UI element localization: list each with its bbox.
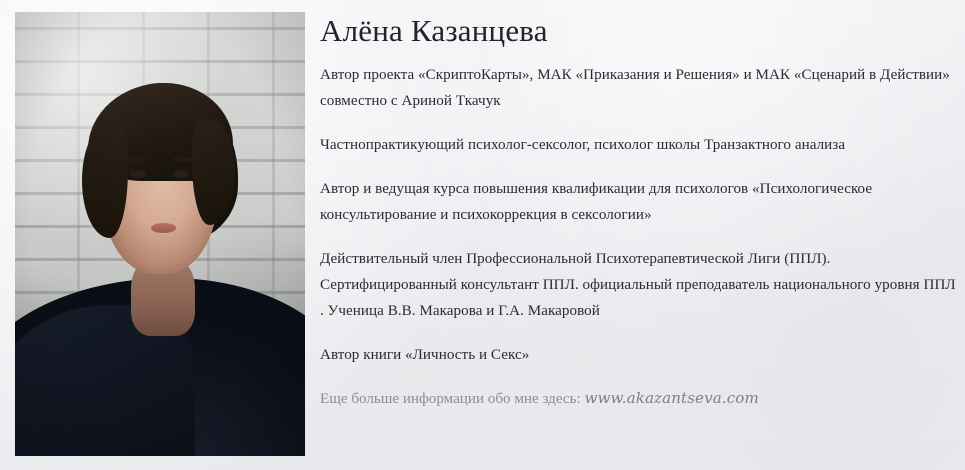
bio-paragraph-book: Автор книги «Личность и Секс» xyxy=(320,342,956,368)
bio-paragraph-membership: Действительный член Профессиональной Пси… xyxy=(320,246,956,324)
bio-paragraph-course: Автор и ведущая курса повышения квалифик… xyxy=(320,176,956,228)
more-info-prefix: Еще больше информации обо мне здесь: xyxy=(320,391,584,407)
profile-text-column: Алёна Казанцева Автор проекта «СкриптоКа… xyxy=(320,14,956,411)
more-info-line: Еще больше информации обо мне здесь: www… xyxy=(320,386,956,411)
page-title: Алёна Казанцева xyxy=(320,14,956,48)
profile-card: Алёна Казанцева Автор проекта «СкриптоКа… xyxy=(0,0,965,470)
bio-paragraph-projects: Автор проекта «СкриптоКарты», МАК «Прика… xyxy=(320,62,956,114)
portrait-photo-canvas xyxy=(15,12,305,456)
photo-vignette-overlay xyxy=(15,12,305,456)
website-link[interactable]: www.akazantseva.com xyxy=(584,389,758,407)
bio-paragraph-practice: Частнопрактикующий психолог-сексолог, пс… xyxy=(320,132,956,158)
portrait-photo xyxy=(15,12,305,456)
